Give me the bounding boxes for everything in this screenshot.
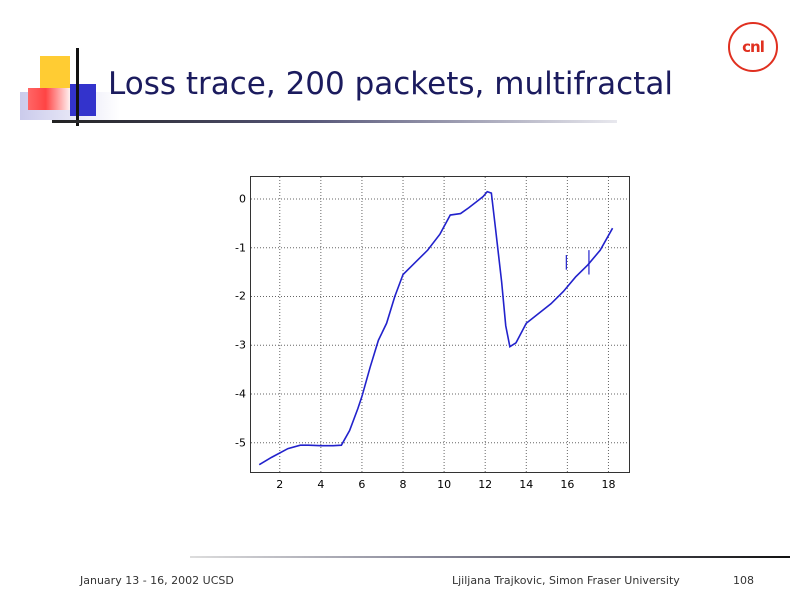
x-axis-tick-label: 4 xyxy=(317,478,324,491)
y-axis-tick-label: -2 xyxy=(235,290,246,303)
decoration-square-yellow xyxy=(40,56,70,88)
title-decoration xyxy=(20,48,110,126)
footer-date: January 13 - 16, 2002 UCSD xyxy=(80,574,234,587)
x-axis-tick-label: 10 xyxy=(437,478,451,491)
y-axis-tick-label: -5 xyxy=(235,436,246,449)
decoration-vertical-rule xyxy=(76,48,79,126)
x-axis-tick-label: 8 xyxy=(400,478,407,491)
chart-svg xyxy=(251,177,629,472)
x-axis-tick-label: 2 xyxy=(276,478,283,491)
x-axis-tick-label: 18 xyxy=(601,478,615,491)
y-axis-tick-label: -1 xyxy=(235,241,246,254)
cnl-logo-text: cnl xyxy=(742,38,764,56)
y-axis-tick-label: -4 xyxy=(235,387,246,400)
title-underline xyxy=(52,120,617,123)
footer-author: Ljiljana Trajkovic, Simon Fraser Univers… xyxy=(452,574,680,587)
chart-gridlines xyxy=(251,177,629,472)
y-axis-tick-label: 0 xyxy=(239,192,246,205)
loss-trace-chart: 0-1-2-3-4-524681012141618 xyxy=(225,176,630,473)
x-axis-tick-label: 14 xyxy=(519,478,533,491)
page-title: Loss trace, 200 packets, multifractal xyxy=(108,66,673,102)
decoration-square-blue xyxy=(70,84,96,116)
chart-plot-area: 0-1-2-3-4-524681012141618 xyxy=(250,176,630,473)
decoration-square-red xyxy=(28,88,72,110)
x-axis-tick-label: 12 xyxy=(478,478,492,491)
footer-rule xyxy=(190,556,790,558)
cnl-logo: cnl xyxy=(728,22,778,72)
footer-page-number: 108 xyxy=(733,574,754,587)
x-axis-tick-label: 6 xyxy=(358,478,365,491)
chart-series-line xyxy=(259,192,612,465)
y-axis-tick-label: -3 xyxy=(235,339,246,352)
x-axis-tick-label: 16 xyxy=(560,478,574,491)
